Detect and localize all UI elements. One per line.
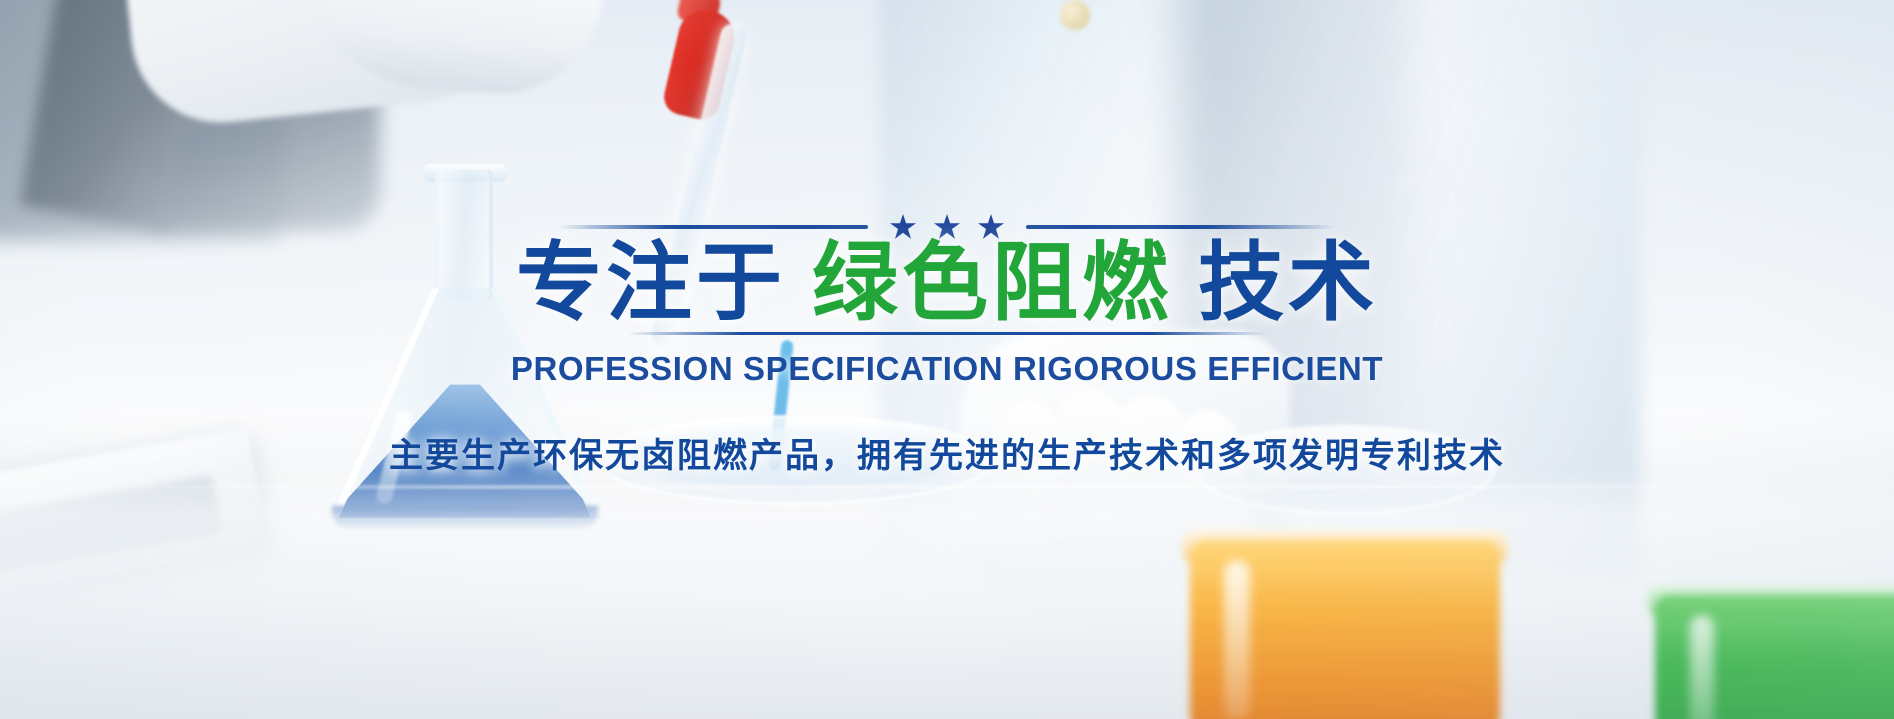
title-part-green-flame-retardant: 绿色阻燃 [812,235,1172,331]
page-title: 专注于绿色阻燃技术 [0,240,1894,326]
title-part-technology: 技术 [1198,235,1378,331]
subtitle-chinese: 主要生产环保无卤阻燃产品，拥有先进的生产技术和多项发明专利技术 [0,428,1894,477]
divider-line-right [1026,225,1336,229]
subtitle-english: PROFESSION SPECIFICATION RIGOROUS EFFICI… [0,350,1894,388]
divider-line-left [558,225,868,229]
title-underline [627,332,1267,335]
hero-banner: 专注于绿色阻燃技术 PROFESSION SPECIFICATION RIGOR… [0,0,1894,719]
title-part-focus: 专注于 [516,235,786,331]
banner-content: 专注于绿色阻燃技术 PROFESSION SPECIFICATION RIGOR… [0,0,1894,719]
